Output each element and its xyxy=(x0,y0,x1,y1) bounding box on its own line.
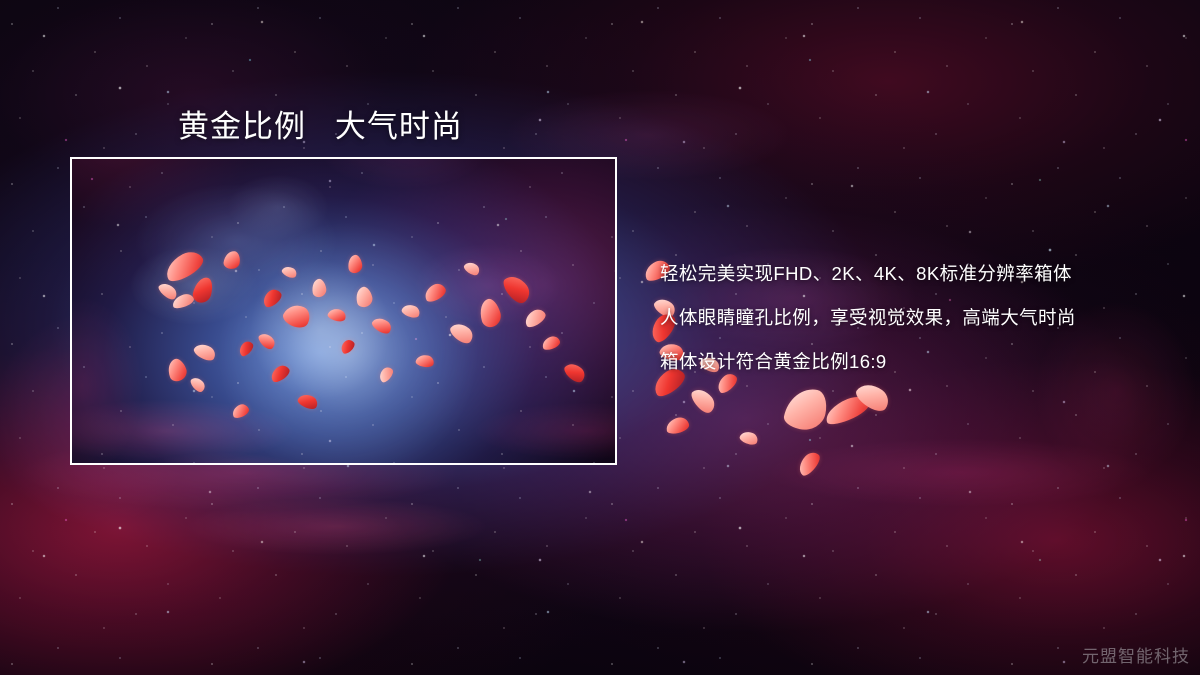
body-line-3: 箱体设计符合黄金比例16:9 xyxy=(660,340,1160,384)
petal xyxy=(782,384,830,433)
preview-frame[interactable] xyxy=(70,157,617,465)
preview-nebula-wisps xyxy=(72,159,615,463)
body-line-2: 人体眼睛瞳孔比例，享受视觉效果，高端大气时尚 xyxy=(660,296,1160,340)
petal xyxy=(738,429,759,447)
preview-starfield-medium xyxy=(72,159,615,463)
petal xyxy=(665,416,691,435)
preview-starfield-colored xyxy=(72,159,615,463)
slide-canvas: 黄金比例 大气时尚 轻松完美实现FHD、2K、4K、8K标准分辨率箱体 人体眼睛… xyxy=(0,0,1200,675)
body-line-1: 轻松完美实现FHD、2K、4K、8K标准分辨率箱体 xyxy=(660,252,1160,296)
petal xyxy=(822,392,872,428)
body-text-block: 轻松完美实现FHD、2K、4K、8K标准分辨率箱体 人体眼睛瞳孔比例，享受视觉效… xyxy=(660,252,1160,384)
preview-core-glow xyxy=(72,159,615,463)
petal xyxy=(795,449,824,478)
preview-nebula-background xyxy=(72,159,615,463)
page-title: 黄金比例 大气时尚 xyxy=(178,101,463,146)
preview-starfield-small xyxy=(72,159,615,463)
preview-scene xyxy=(72,159,615,463)
watermark: 元盟智能科技 xyxy=(1082,642,1190,667)
preview-frame-inner xyxy=(72,159,615,463)
petal xyxy=(688,385,718,417)
